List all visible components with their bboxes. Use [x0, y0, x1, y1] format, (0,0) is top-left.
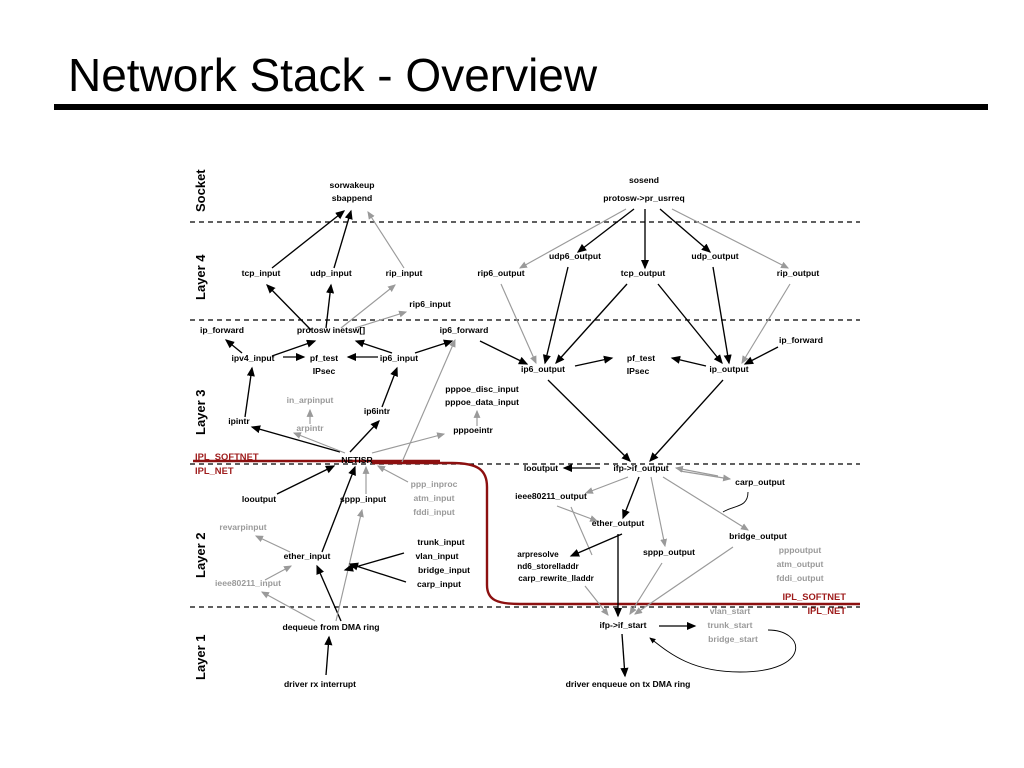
node-protosw-inetsw: protosw inetsw[] [297, 325, 365, 335]
node-trunk-start: trunk_start [708, 620, 753, 630]
node-ip6-output: ip6_output [521, 364, 565, 374]
node-ip6-input: ip6_input [380, 353, 418, 363]
node-ether-output: ether_output [592, 518, 645, 528]
node-ipsec-left: IPsec [313, 366, 336, 376]
node-tcp-output: tcp_output [621, 268, 666, 278]
node-in-arpinput: in_arpinput [287, 395, 334, 405]
node-arpintr: arpintr [296, 423, 324, 433]
node-ppp-inproc: ppp_inproc [411, 479, 458, 489]
node-looutput-left: looutput [242, 494, 276, 504]
network-stack-diagram: Socket Layer 4 Layer 3 Layer 2 Layer 1 [0, 0, 1024, 768]
node-bridge-start: bridge_start [708, 634, 758, 644]
node-atm-input: atm_input [413, 493, 454, 503]
node-rip6-output: rip6_output [477, 268, 524, 278]
node-vlan-input: vlan_input [416, 551, 459, 561]
node-ifp-if-output: ifp->if_output [613, 463, 668, 473]
node-protosw-pr-usrreq: protosw->pr_usrreq [603, 193, 684, 203]
node-dequeue-from-dma-ring: dequeue from DMA ring [282, 622, 379, 632]
node-ifp-if-start: ifp->if_start [599, 620, 646, 630]
node-ieee80211-input: ieee80211_input [215, 578, 281, 588]
node-atm-output: atm_output [777, 559, 824, 569]
node-fddi-input: fddi_input [413, 507, 455, 517]
node-udp-output: udp_output [691, 251, 738, 261]
node-nd6-storelladdr: nd6_storelladdr [517, 562, 579, 571]
ipl-net-left-label: IPL_NET [195, 465, 234, 476]
node-pf-test-right: pf_test [627, 353, 655, 363]
node-labels-layer2: looutput sppp_input ppp_inproc atm_input… [215, 463, 824, 589]
node-ipv4-input: ipv4_input [232, 353, 275, 363]
node-labels-layer3: ip_forward protosw inetsw[] ip6_forward … [200, 325, 823, 465]
node-sorwakeup: sorwakeup [330, 180, 375, 190]
node-pf-test-left: pf_test [310, 353, 338, 363]
node-arpresolve: arpresolve [517, 550, 559, 559]
node-fddi-output: fddi_output [776, 573, 823, 583]
layer-label-layer1: Layer 1 [193, 634, 208, 680]
node-rip-output: rip_output [777, 268, 820, 278]
edges-send-to-ip [501, 267, 790, 363]
node-bridge-input: bridge_input [418, 565, 470, 575]
node-ip-forward-right: ip_forward [779, 335, 823, 345]
layer-label-socket: Socket [193, 169, 208, 212]
node-ether-input: ether_input [284, 551, 331, 561]
node-udp6-output: udp6_output [549, 251, 601, 261]
layer-axis-labels: Socket Layer 4 Layer 3 Layer 2 Layer 1 [193, 169, 208, 680]
ipl-softnet-right-label: IPL_SOFTNET [782, 591, 846, 602]
node-ip6-forward: ip6_forward [440, 325, 489, 335]
node-pppoe-disc-input: pppoe_disc_input [445, 384, 519, 394]
node-rip6-input: rip6_input [409, 299, 451, 309]
ipl-net-right-label: IPL_NET [807, 605, 846, 616]
node-ipsec-right: IPsec [627, 366, 650, 376]
node-vlan-start: vlan_start [710, 606, 751, 616]
layer-label-layer3: Layer 3 [193, 389, 208, 435]
node-carp-output: carp_output [735, 477, 785, 487]
layer-label-layer4: Layer 4 [193, 254, 208, 300]
node-bridge-output: bridge_output [729, 531, 787, 541]
node-labels-socket: sorwakeup sbappend sosend protosw->pr_us… [330, 175, 685, 203]
node-trunk-input: trunk_input [417, 537, 464, 547]
node-ip6intr: ip6intr [364, 406, 391, 416]
node-ip-output: ip_output [709, 364, 748, 374]
node-looutput-right: looutput [524, 463, 558, 473]
node-ipintr: ipintr [228, 416, 250, 426]
node-carp-input: carp_input [417, 579, 461, 589]
node-revarpinput: revarpinput [219, 522, 266, 532]
node-ip-forward-left: ip_forward [200, 325, 244, 335]
node-sppp-input: sppp_input [340, 494, 386, 504]
node-rip-input: rip_input [386, 268, 423, 278]
slide-root: Network Stack - Overview Socket Layer 4 [0, 0, 1024, 768]
node-sppp-output: sppp_output [643, 547, 695, 557]
node-pppoe-data-input: pppoe_data_input [445, 397, 519, 407]
node-ieee80211-output: ieee80211_output [515, 491, 587, 501]
node-tcp-input: tcp_input [242, 268, 281, 278]
ipl-softnet-left-label: IPL_SOFTNET [195, 451, 259, 462]
layer-label-layer2: Layer 2 [193, 532, 208, 578]
node-driver-enqueue-tx-dma-ring: driver enqueue on tx DMA ring [566, 679, 691, 689]
node-udp-input: udp_input [310, 268, 352, 278]
node-pppoeintr: pppoeintr [453, 425, 493, 435]
node-netisr: NETISR [341, 455, 373, 465]
node-pppoutput: pppoutput [779, 545, 822, 555]
node-sbappend: sbappend [332, 193, 373, 203]
node-sosend: sosend [629, 175, 659, 185]
node-labels-layer1: dequeue from DMA ring driver rx interrup… [282, 606, 758, 689]
node-labels-layer4: tcp_input udp_input rip_input rip6_input… [242, 251, 820, 309]
node-driver-rx-interrupt: driver rx interrupt [284, 679, 356, 689]
node-carp-rewrite-lladdr: carp_rewrite_lladdr [518, 574, 594, 583]
